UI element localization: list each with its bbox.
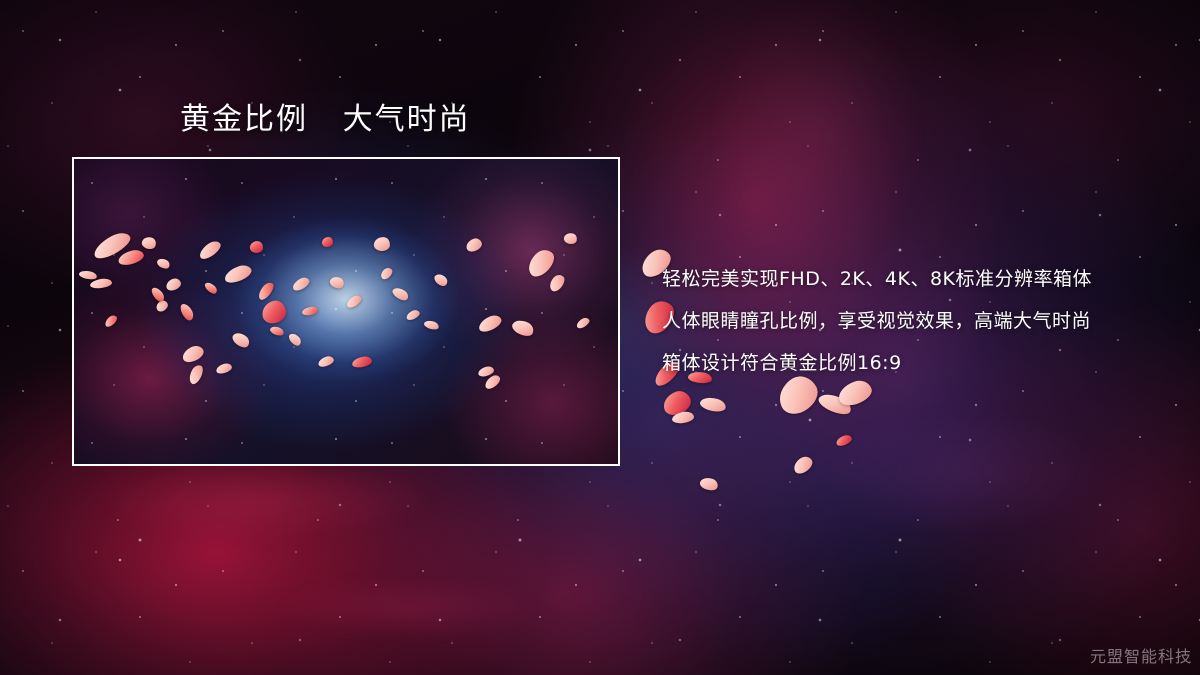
description-line-1: 轻松完美实现FHD、2K、4K、8K标准分辨率箱体	[662, 258, 1162, 300]
brand-watermark: 元盟智能科技	[1090, 643, 1192, 667]
description-line-3: 箱体设计符合黄金比例16:9	[662, 342, 1162, 384]
product-image-frame	[72, 157, 620, 466]
page-title: 黄金比例 大气时尚	[180, 101, 471, 139]
feature-description: 轻松完美实现FHD、2K、4K、8K标准分辨率箱体 人体眼睛瞳孔比例，享受视觉效…	[662, 258, 1162, 384]
petal	[322, 237, 333, 247]
slide-canvas: 黄金比例 大气时尚	[0, 0, 1200, 675]
photo-star-field	[74, 159, 618, 464]
description-line-2: 人体眼睛瞳孔比例，享受视觉效果，高端大气时尚	[662, 300, 1162, 342]
